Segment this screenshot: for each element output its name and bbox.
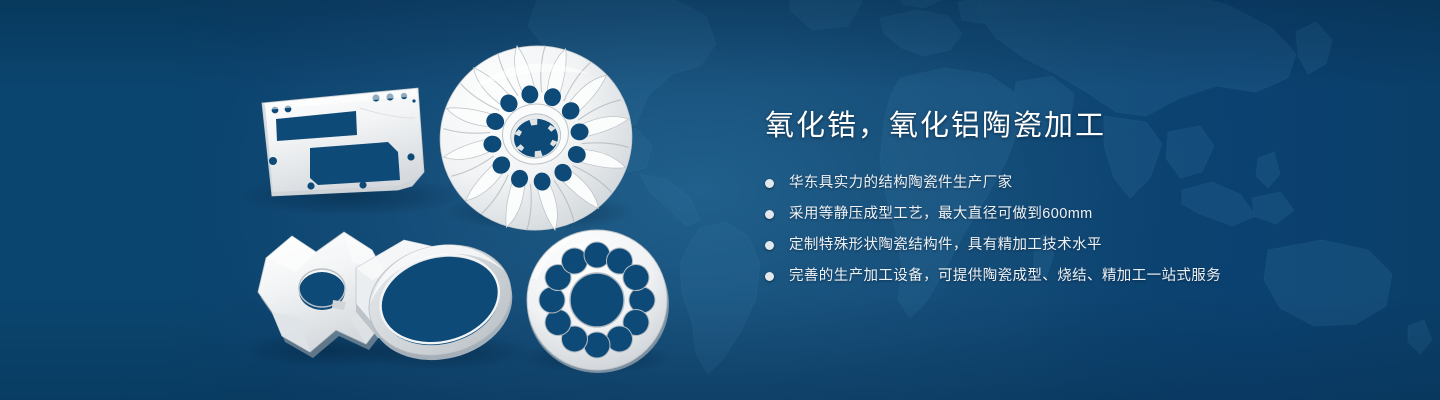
banner-copy: 氧化锆，氧化铝陶瓷加工 华东具实力的结构陶瓷件生产厂家 采用等静压成型工艺，最大… bbox=[765, 112, 1385, 296]
bullet-marker-icon bbox=[765, 241, 774, 250]
feature-text: 完善的生产加工设备，可提供陶瓷成型、烧结、精加工一站式服务 bbox=[789, 265, 1221, 288]
bullet-marker-icon bbox=[765, 272, 774, 281]
list-item: 定制特殊形状陶瓷结构件，具有精加工技术水平 bbox=[765, 234, 1385, 257]
product-machined-plate bbox=[262, 88, 424, 196]
product-perforated-disc bbox=[527, 230, 669, 373]
ceramic-products-banner: 氧化锆，氧化铝陶瓷加工 华东具实力的结构陶瓷件生产厂家 采用等静压成型工艺，最大… bbox=[0, 0, 1440, 400]
page-title: 氧化锆，氧化铝陶瓷加工 bbox=[765, 112, 1385, 141]
feature-text: 采用等静压成型工艺，最大直径可做到600mm bbox=[789, 203, 1093, 226]
feature-list: 华东具实力的结构陶瓷件生产厂家 采用等静压成型工艺，最大直径可做到600mm 定… bbox=[765, 172, 1385, 288]
list-item: 华东具实力的结构陶瓷件生产厂家 bbox=[765, 172, 1385, 195]
bullet-marker-icon bbox=[765, 210, 774, 219]
product-images-group bbox=[0, 0, 720, 400]
feature-text: 华东具实力的结构陶瓷件生产厂家 bbox=[789, 172, 1013, 195]
feature-text: 定制特殊形状陶瓷结构件，具有精加工技术水平 bbox=[789, 234, 1102, 257]
list-item: 完善的生产加工设备，可提供陶瓷成型、烧结、精加工一站式服务 bbox=[765, 265, 1385, 288]
bullet-marker-icon bbox=[765, 179, 774, 188]
list-item: 采用等静压成型工艺，最大直径可做到600mm bbox=[765, 203, 1385, 226]
